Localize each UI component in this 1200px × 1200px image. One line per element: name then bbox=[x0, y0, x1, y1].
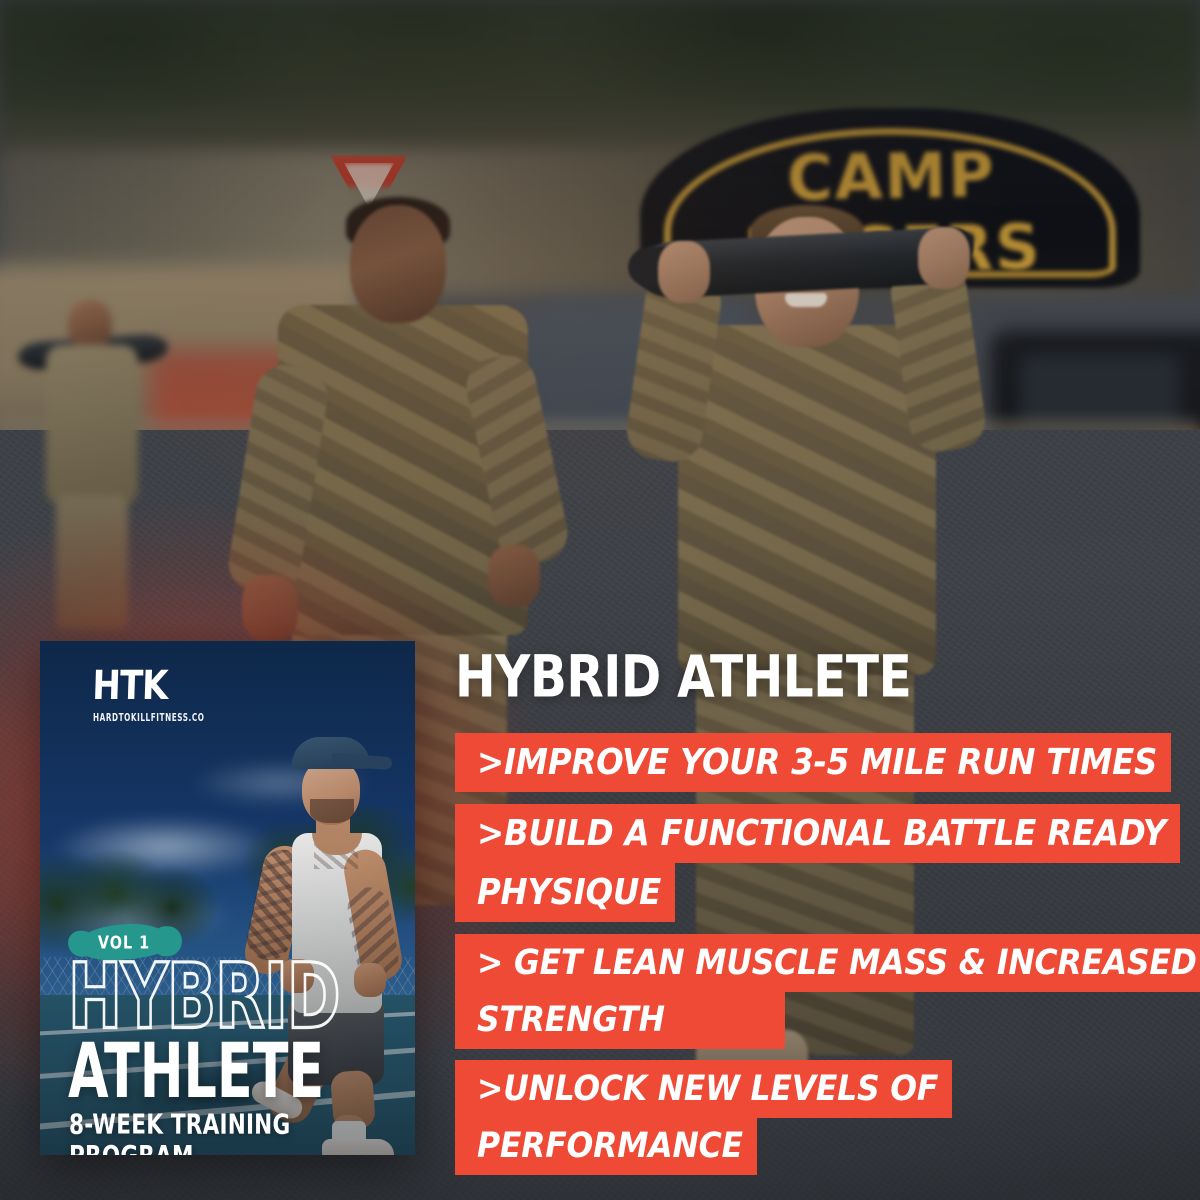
list-item: >IMPROVE YOUR 3-5 MILE RUN TIMES bbox=[455, 734, 1200, 792]
benefit-text-3: GET LEAN MUSCLE MASS & INCREASED STRENGT… bbox=[477, 943, 1197, 1040]
product-cover-card[interactable]: HTK HARDTOKILLFITNESS.CO VOL 1 HYBRID AT… bbox=[40, 641, 415, 1155]
benefit-highlight-2: >BUILD A FUNCTIONAL BATTLE READY PHYSIQU… bbox=[455, 804, 1180, 921]
benefit-marker-1: > bbox=[477, 742, 504, 783]
list-item: >UNLOCK NEW LEVELS OF PERFORMANCE bbox=[455, 1061, 1200, 1174]
benefit-highlight-4: >UNLOCK NEW LEVELS OF PERFORMANCE bbox=[455, 1060, 952, 1175]
benefit-text-1: IMPROVE YOUR 3-5 MILE RUN TIMES bbox=[504, 742, 1157, 783]
cover-subtitle: 8-WEEK TRAINING PROGRAM bbox=[69, 1108, 395, 1155]
promo-canvas: CAMP ROGERS bbox=[0, 0, 1200, 1200]
cover-title-line-1: HYBRID bbox=[68, 959, 398, 1037]
benefit-highlight-1: >IMPROVE YOUR 3-5 MILE RUN TIMES bbox=[455, 733, 1171, 792]
cover-title-line-2: ATHLETE bbox=[68, 1039, 398, 1106]
htk-logo-mark: HTK bbox=[92, 666, 168, 706]
benefit-marker-4: > bbox=[477, 1069, 503, 1109]
benefit-list: >IMPROVE YOUR 3-5 MILE RUN TIMES >BUILD … bbox=[455, 734, 1200, 1175]
benefit-marker-2: > bbox=[477, 813, 504, 854]
htk-logo-tagline: HARDTOKILLFITNESS.CO bbox=[93, 712, 217, 725]
cover-brand-logo: HTK HARDTOKILLFITNESS.CO bbox=[93, 666, 223, 722]
benefit-marker-3: > bbox=[477, 943, 503, 983]
list-item: >BUILD A FUNCTIONAL BATTLE READY PHYSIQU… bbox=[455, 805, 1200, 922]
benefit-text-4: UNLOCK NEW LEVELS OF PERFORMANCE bbox=[477, 1069, 938, 1166]
marketing-copy: HYBRID ATHLETE >IMPROVE YOUR 3-5 MILE RU… bbox=[455, 648, 1200, 1175]
benefit-text-2: BUILD A FUNCTIONAL BATTLE READY PHYSIQUE bbox=[477, 813, 1166, 912]
page-title: HYBRID ATHLETE bbox=[455, 648, 1200, 706]
benefit-highlight-3: > GET LEAN MUSCLE MASS & INCREASED STREN… bbox=[455, 934, 1200, 1049]
list-item: > GET LEAN MUSCLE MASS & INCREASED STREN… bbox=[455, 935, 1200, 1048]
